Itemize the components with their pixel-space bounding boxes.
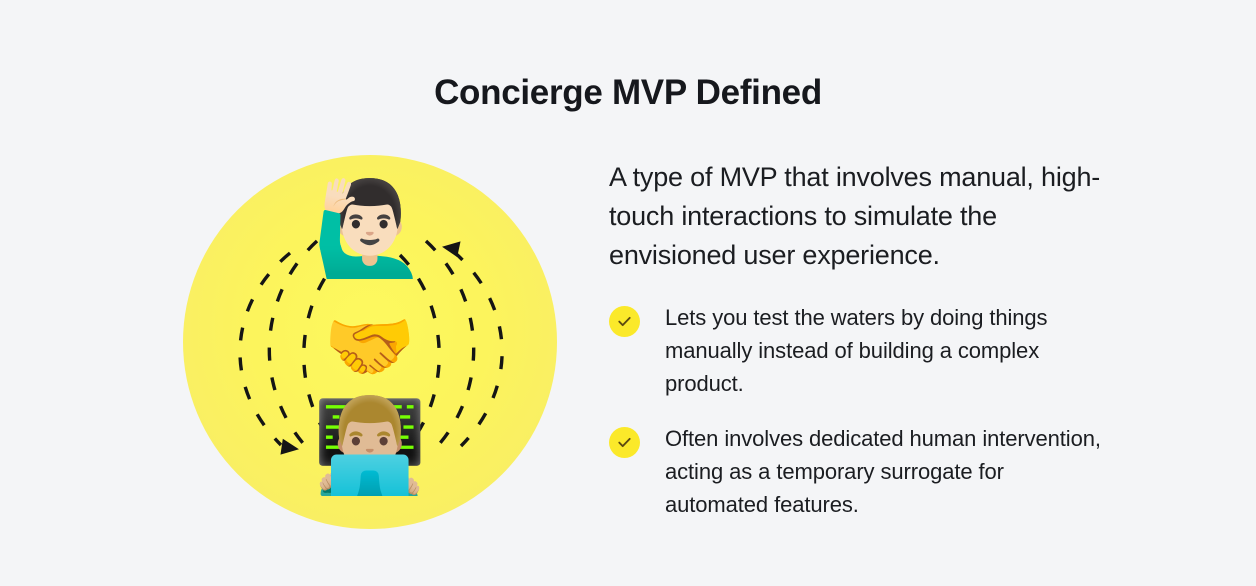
list-item-label: Often involves dedicated human intervent…	[665, 422, 1109, 521]
concierge-loop-illustration: 🙋🏻‍♂️ 🤝 👨🏼‍💻	[183, 155, 557, 529]
page-title: Concierge MVP Defined	[0, 71, 1256, 115]
list-item: Often involves dedicated human intervent…	[609, 422, 1109, 521]
person-with-laptop-emoji: 👨🏼‍💻	[313, 400, 428, 492]
list-item-label: Lets you test the waters by doing things…	[665, 301, 1109, 400]
slide-canvas: Concierge MVP Defined 🙋🏻‍♂️ 🤝 👨🏼‍💻	[0, 0, 1256, 586]
check-icon	[609, 427, 640, 458]
definition-content: A type of MVP that involves manual, high…	[609, 158, 1109, 521]
check-icon	[609, 306, 640, 337]
definition-description: A type of MVP that involves manual, high…	[609, 158, 1109, 275]
key-points-list: Lets you test the waters by doing things…	[609, 301, 1109, 521]
list-item: Lets you test the waters by doing things…	[609, 301, 1109, 400]
handshake-emoji: 🤝	[324, 310, 416, 384]
person-raising-hand-emoji: 🙋🏻‍♂️	[313, 183, 428, 275]
